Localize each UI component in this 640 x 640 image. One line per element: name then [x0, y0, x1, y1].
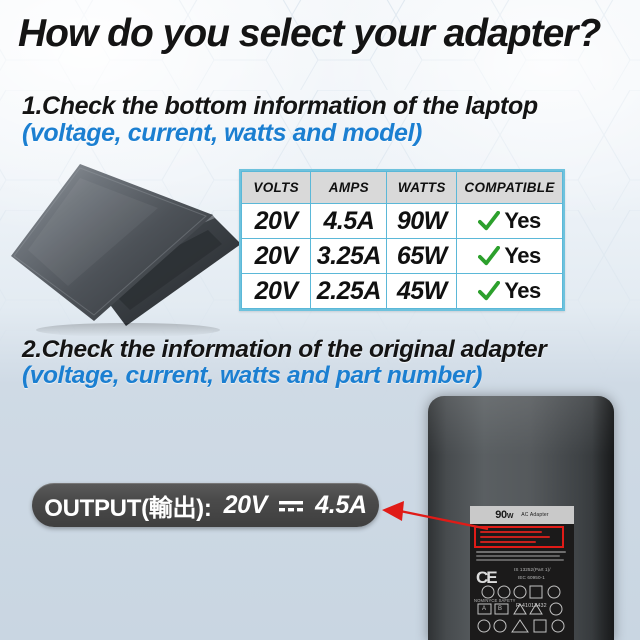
adapter-wattage: 90W	[495, 509, 513, 521]
column-header-watts: WATTS	[387, 172, 457, 204]
dc-current-icon	[278, 498, 304, 516]
cert-standard-2: IEC 60950-1	[518, 574, 545, 581]
step-2-line-1: 2.Check the information of the original …	[22, 336, 546, 364]
cert-standard-1: IS 13252(Part 1)/	[514, 566, 551, 573]
step-1-instruction: 1.Check the bottom information of the la…	[22, 92, 538, 148]
green-check-icon	[478, 211, 500, 231]
step-1-line-1: 1.Check the bottom information of the la…	[22, 92, 538, 121]
red-arrow-icon	[382, 498, 490, 532]
cell-amps: 2.25A	[311, 274, 387, 309]
infographic-canvas: How do you select your adapter? 1.Check …	[0, 0, 640, 640]
compatible-text: Yes	[504, 208, 540, 234]
column-header-volts: VOLTS	[242, 172, 311, 204]
output-label: OUTPUT(輸出):	[44, 488, 211, 523]
green-check-icon	[478, 281, 500, 301]
step-2-instruction: 2.Check the information of the original …	[22, 336, 546, 390]
output-voltage: 20V	[224, 491, 268, 520]
output-callout: OUTPUT(輸出): 20V 4.5A	[32, 483, 379, 527]
adapter-type-text: AC Adapter	[521, 512, 549, 518]
cell-watts: 90W	[387, 204, 457, 239]
adapter-sheen	[428, 396, 614, 456]
table-header-row: VOLTS AMPS WATTS COMPATIBLE	[242, 172, 563, 204]
compatible-text: Yes	[504, 243, 540, 269]
laptop-image	[8, 158, 244, 336]
cell-compatible: Yes	[457, 274, 563, 309]
cell-volts: 20V	[242, 239, 311, 274]
compatibility-table: VOLTS AMPS WATTS COMPATIBLE 20V 4.5A 90W	[239, 169, 565, 311]
cell-watts: 65W	[387, 239, 457, 274]
output-current: 4.5A	[315, 491, 367, 520]
cell-watts: 45W	[387, 274, 457, 309]
page-title: How do you select your adapter?	[18, 12, 632, 56]
cell-amps: 3.25A	[311, 239, 387, 274]
compatible-text: Yes	[504, 278, 540, 304]
step-2-line-2: (voltage, current, watts and part number…	[22, 362, 546, 390]
adapter-edge-shading	[592, 396, 614, 640]
cell-compatible: Yes	[457, 204, 563, 239]
column-header-compatible: COMPATIBLE	[457, 172, 563, 204]
step-1-line-2: (voltage, current, watts and model)	[22, 119, 538, 148]
column-header-amps: AMPS	[311, 172, 387, 204]
table-row: 20V 4.5A 90W Yes	[242, 204, 563, 239]
cell-amps: 4.5A	[311, 204, 387, 239]
table-row: 20V 2.25A 45W Yes	[242, 274, 563, 309]
table-row: 20V 3.25A 65W Yes	[242, 239, 563, 274]
svg-text:B: B	[498, 606, 502, 612]
green-check-icon	[478, 246, 500, 266]
svg-text:A: A	[482, 606, 486, 612]
cell-volts: 20V	[242, 204, 311, 239]
cell-compatible: Yes	[457, 239, 563, 274]
cell-volts: 20V	[242, 274, 311, 309]
certification-marks-icons: A B	[474, 584, 570, 640]
